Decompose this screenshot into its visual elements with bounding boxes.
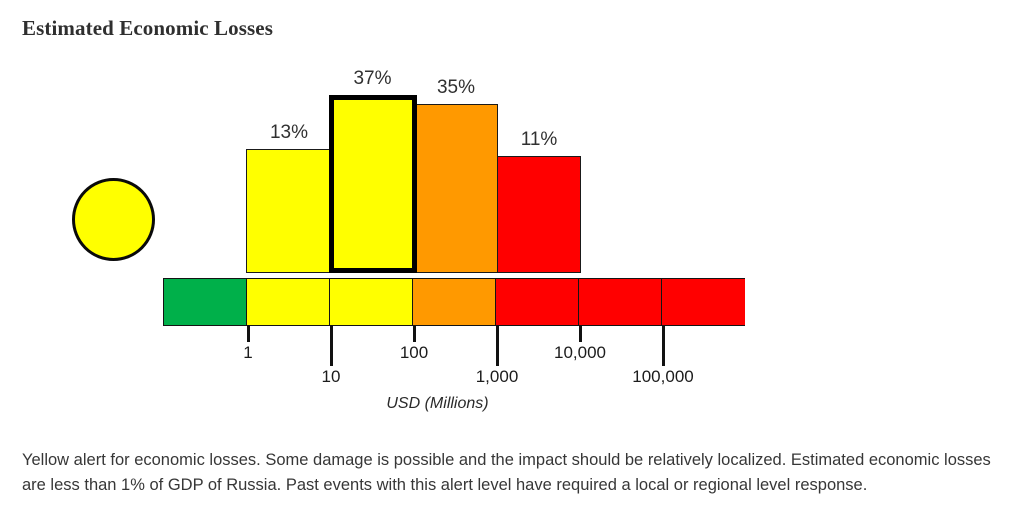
scale-segment-red-1: [496, 279, 579, 325]
axis-tick-1: [247, 326, 250, 342]
scale-segment-yellow-2: [330, 279, 413, 325]
scale-segment-red-2: [579, 279, 662, 325]
pager-economic-loss-chart: 13% 37% 35% 11% 1 10 100 1,000 10,000 1: [0, 60, 1027, 430]
axis-tick-10000: [579, 326, 582, 342]
axis-label-100000: 100,000: [632, 367, 693, 387]
alert-level-circle-icon: [72, 178, 155, 261]
histogram-bar-35: [414, 104, 498, 273]
axis-label-10: 10: [322, 367, 341, 387]
scale-segment-orange: [413, 279, 496, 325]
histogram-label-11: 11%: [497, 129, 581, 151]
scale-segment-green: [164, 279, 247, 325]
axis-tick-1000: [496, 326, 499, 366]
axis-tick-10: [330, 326, 333, 366]
histogram-bar-13: [246, 149, 332, 273]
histogram-label-37: 37%: [331, 68, 414, 90]
scale-segment-red-3: [662, 279, 745, 325]
axis-tick-100000: [662, 326, 665, 366]
histogram-label-13: 13%: [246, 122, 332, 144]
alert-caption: Yellow alert for economic losses. Some d…: [22, 448, 1012, 498]
histogram-bar-11: [497, 156, 581, 273]
histogram-bar-37: [329, 95, 417, 273]
axis-title-text: USD (Millions): [386, 395, 488, 412]
histogram-label-35: 35%: [414, 77, 498, 99]
economic-losses-panel: Estimated Economic Losses 13% 37% 35% 11…: [0, 0, 1027, 514]
axis-label-100: 100: [400, 343, 428, 363]
axis-label-1: 1: [243, 343, 252, 363]
axis-tick-100: [413, 326, 416, 342]
axis-label-1000: 1,000: [476, 367, 519, 387]
axis-title: USD (Millions): [0, 395, 1027, 413]
loss-scale-bar: [163, 278, 745, 326]
axis-label-10000: 10,000: [554, 343, 606, 363]
page-title: Estimated Economic Losses: [22, 16, 273, 41]
scale-segment-yellow-1: [247, 279, 330, 325]
